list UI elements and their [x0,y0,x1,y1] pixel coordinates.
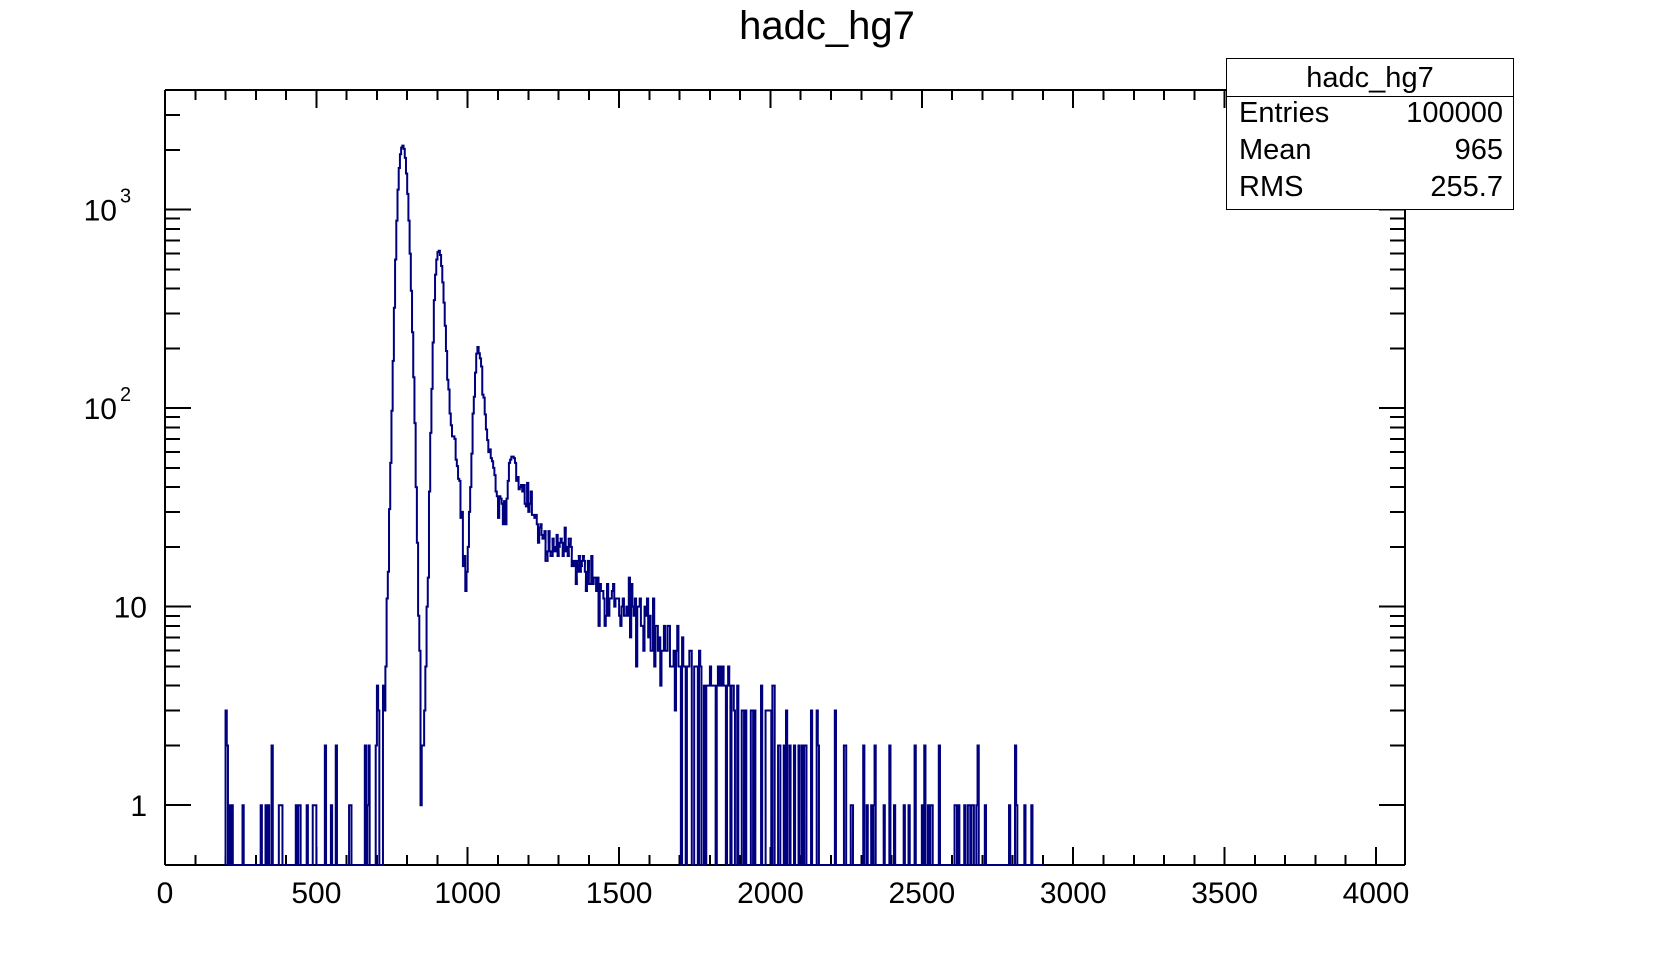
stats-box-title: hadc_hg7 [1227,59,1513,97]
y-tick-label: 103 [84,186,132,228]
x-tick-label: 500 [291,877,341,910]
histogram-curve [226,146,1043,865]
stats-row-entries: Entries 100000 [1227,97,1513,134]
x-tick-label: 2500 [888,877,955,910]
x-tick-label: 2000 [737,877,804,910]
y-tick-label: 102 [84,384,132,426]
stats-row-mean: Mean 965 [1227,134,1513,171]
y-tick-label: 10 [114,592,147,625]
x-tick-label: 3000 [1040,877,1107,910]
stats-key-rms: RMS [1239,173,1303,206]
svg-text:3: 3 [120,186,131,208]
svg-text:2: 2 [120,384,131,406]
y-tick-label: 1 [130,790,147,823]
stats-value-mean: 965 [1455,136,1503,169]
stats-box: hadc_hg7 Entries 100000 Mean 965 RMS 255… [1226,58,1514,210]
x-tick-label: 0 [157,877,174,910]
x-tick-label: 1500 [586,877,653,910]
histogram-data-series [226,146,1043,865]
x-tick-label: 1000 [434,877,501,910]
x-tick-label: 3500 [1191,877,1258,910]
svg-text:1: 1 [130,790,147,823]
svg-text:10: 10 [84,195,117,228]
stats-value-entries: 100000 [1406,99,1503,132]
stats-key-mean: Mean [1239,136,1312,169]
stats-row-rms: RMS 255.7 [1227,171,1513,208]
svg-text:10: 10 [114,592,147,625]
stats-value-rms: 255.7 [1430,173,1503,206]
svg-text:10: 10 [84,393,117,426]
root-canvas: hadc_hg7 0500100015002000250030003500400… [0,0,1654,965]
stats-key-entries: Entries [1239,99,1329,132]
x-tick-label: 4000 [1343,877,1410,910]
